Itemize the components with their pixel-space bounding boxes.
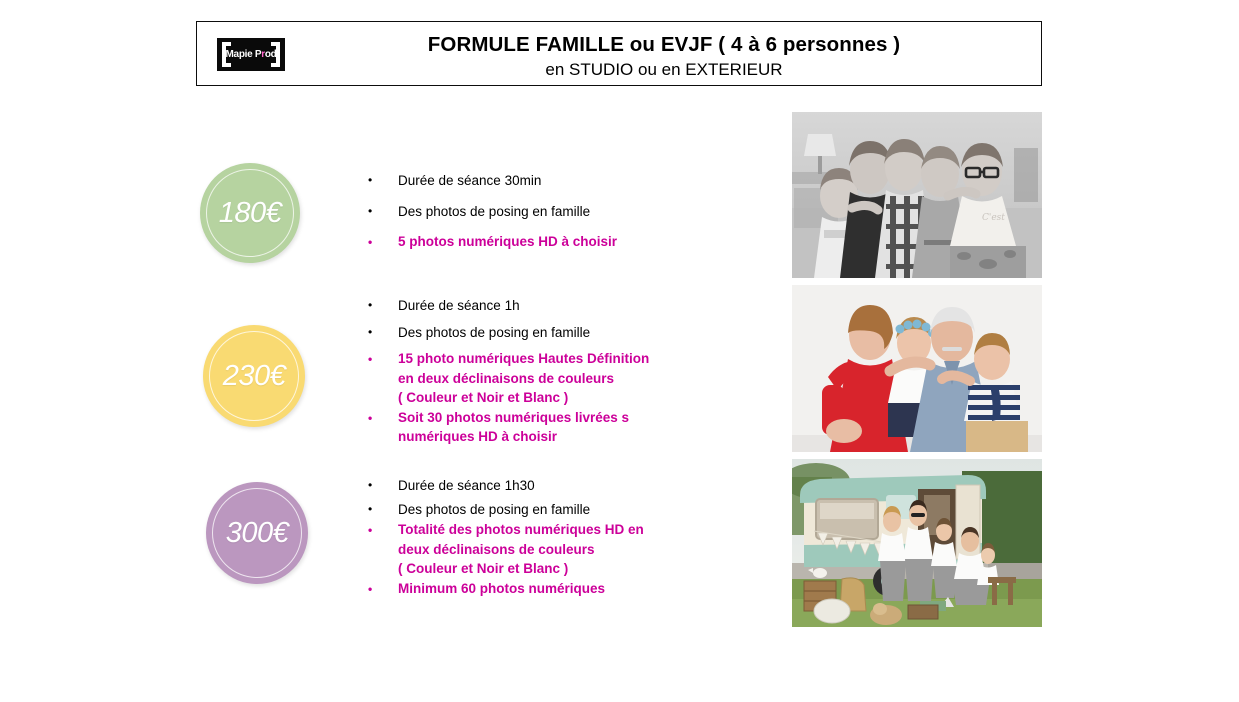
list-item-text: Minimum 60 photos numériques: [398, 579, 605, 599]
list-item-text: Durée de séance 1h30: [398, 475, 535, 496]
spacer: [368, 222, 768, 232]
list-item: • Durée de séance 1h: [368, 295, 768, 316]
bullet-icon: •: [368, 322, 398, 343]
list-item-highlighted: • 15 photo numériques Hautes Définition …: [368, 349, 768, 408]
price-badge-300: 300€: [206, 482, 308, 584]
list-item-text: Des photos de posing en famille: [398, 499, 590, 520]
price-badge-180: 180€: [200, 163, 300, 263]
bullet-icon: •: [368, 408, 398, 429]
list-item-highlighted: • 5 photos numériques HD à choisir: [368, 232, 768, 253]
list-item-text: Des photos de posing en famille: [398, 201, 590, 222]
mapie-prod-logo: Mapie Prod: [217, 38, 285, 71]
list-item-text: 15 photo numériques Hautes Définition en…: [398, 349, 649, 408]
price-badge-230: 230€: [203, 325, 305, 427]
offer-details-230: • Durée de séance 1h • Des photos de pos…: [368, 295, 768, 447]
logo-text: Mapie Prod: [226, 49, 277, 60]
page-title: FORMULE FAMILLE ou EVJF ( 4 à 6 personne…: [297, 32, 1031, 58]
photo-children-bw-graphic: C'est: [792, 112, 1042, 278]
bullet-icon: •: [368, 349, 398, 370]
list-item: • Des photos de posing en famille: [368, 322, 768, 343]
offer-details-180: • Durée de séance 30min • Des photos de …: [368, 170, 768, 253]
bullet-icon: •: [368, 232, 398, 253]
price-label: 230€: [223, 360, 286, 393]
bullet-icon: •: [368, 579, 398, 600]
photo-caravan-family-graphic: [792, 459, 1042, 627]
list-item-text: Durée de séance 30min: [398, 170, 541, 191]
photo-children-bw: C'est: [792, 112, 1042, 278]
svg-text:C'est: C'est: [982, 213, 1005, 223]
bullet-icon: •: [368, 499, 398, 520]
list-item-text: Soit 30 photos numériques livrées s numé…: [398, 408, 629, 447]
photo-grandparents-color-graphic: [792, 285, 1042, 452]
logo-right-bracket-icon: [276, 42, 280, 67]
offer-details-300: • Durée de séance 1h30 • Des photos de p…: [368, 475, 768, 600]
list-item: • Durée de séance 30min: [368, 170, 768, 191]
bullet-icon: •: [368, 201, 398, 222]
photo-grandparents-color: [792, 285, 1042, 452]
list-item-text: 5 photos numériques HD à choisir: [398, 232, 617, 252]
bullet-icon: •: [368, 295, 398, 316]
bullet-icon: •: [368, 520, 398, 541]
list-item-text: Durée de séance 1h: [398, 295, 520, 316]
list-item-highlighted: • Soit 30 photos numériques livrées s nu…: [368, 408, 768, 447]
list-item-text: Totalité des photos numériques HD en deu…: [398, 520, 644, 579]
logo-text-part2: od: [265, 49, 277, 60]
photo-caravan-family: [792, 459, 1042, 627]
bullet-icon: •: [368, 475, 398, 496]
list-item: • Des photos de posing en famille: [368, 201, 768, 222]
header-title-group: FORMULE FAMILLE ou EVJF ( 4 à 6 personne…: [297, 32, 1031, 82]
price-label: 180€: [219, 197, 282, 230]
list-item-text: Des photos de posing en famille: [398, 322, 590, 343]
list-item-highlighted: • Minimum 60 photos numériques: [368, 579, 768, 600]
spacer: [368, 191, 768, 201]
page-subtitle: en STUDIO ou en EXTERIEUR: [297, 58, 1031, 82]
list-item: • Des photos de posing en famille: [368, 499, 768, 520]
price-label: 300€: [226, 517, 289, 550]
list-item-highlighted: • Totalité des photos numériques HD en d…: [368, 520, 768, 579]
header-banner: Mapie Prod FORMULE FAMILLE ou EVJF ( 4 à…: [196, 21, 1042, 86]
bullet-icon: •: [368, 170, 398, 191]
list-item: • Durée de séance 1h30: [368, 475, 768, 496]
logo-text-part1: Mapie P: [226, 49, 262, 60]
